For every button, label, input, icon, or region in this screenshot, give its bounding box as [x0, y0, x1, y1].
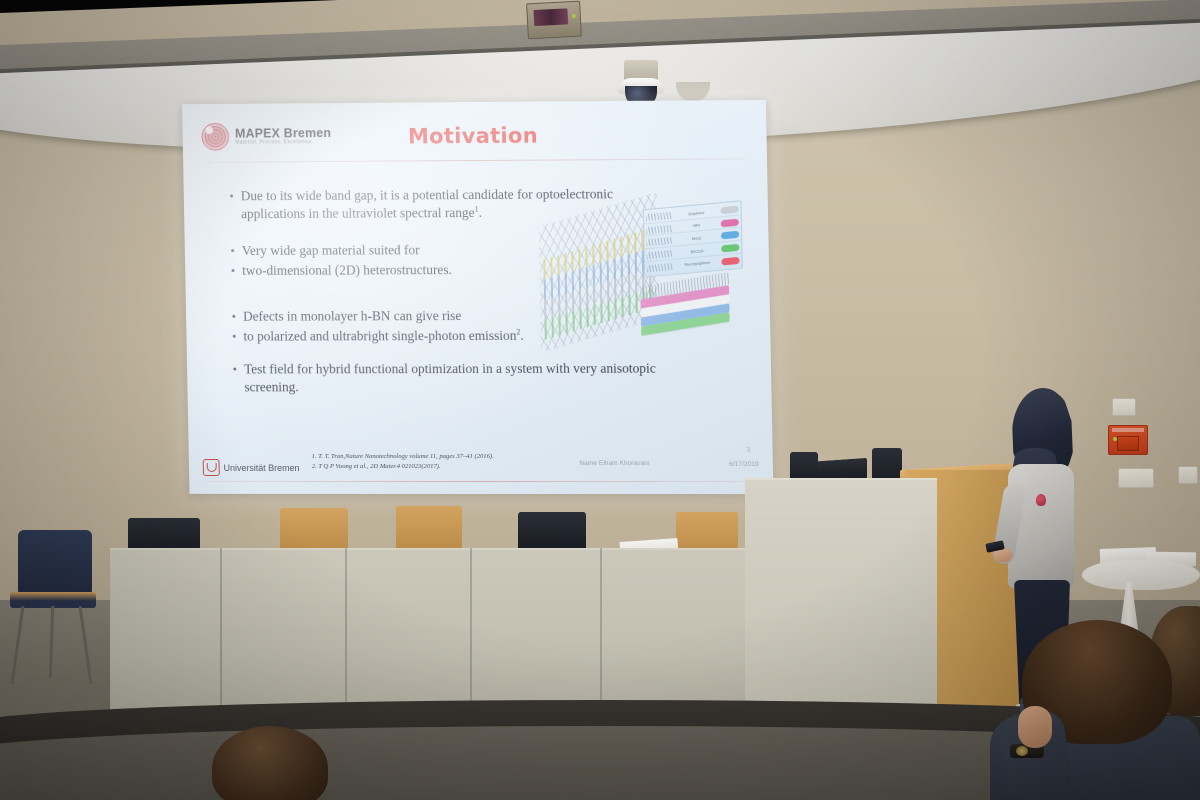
bullet-text-tail: .	[478, 205, 482, 220]
front-desk-panel	[110, 548, 750, 725]
bullet-marker: •	[232, 327, 237, 345]
legend-chip	[721, 231, 739, 240]
panel-seam	[220, 548, 222, 723]
university-name: Universität Bremen	[224, 463, 300, 473]
fire-alarm-led-icon	[1113, 437, 1117, 441]
panel-seam	[470, 548, 472, 723]
bullet-marker: •	[232, 360, 237, 396]
fire-alarm-glass	[1117, 436, 1139, 451]
legend-label: Graphene	[674, 209, 718, 217]
chair-left	[10, 530, 96, 626]
university-logo: Universität Bremen	[203, 459, 300, 476]
fire-alarm-label	[1112, 428, 1144, 432]
panel-seam	[600, 548, 602, 723]
chair-back	[18, 530, 92, 596]
presenter-badge-icon	[1036, 494, 1046, 506]
legend-label: hBN	[674, 222, 718, 230]
slide-page-number: 3	[746, 447, 750, 454]
light-switch-icon	[1112, 398, 1136, 416]
legend-mesh-icon	[647, 263, 673, 272]
projector-led-icon	[572, 14, 576, 18]
legend-chip	[721, 244, 739, 253]
reference-item: 2. T Q P Vuong et al., 2D Mater.4 021023…	[312, 462, 562, 472]
presenter-name-footer: Name Elham Khorasani	[579, 460, 649, 467]
slide-header-rule	[203, 158, 745, 162]
legend-label: Fluorographene	[675, 260, 719, 268]
legend-label: BSCCO	[675, 247, 719, 255]
legend-label: MoS2	[675, 235, 719, 243]
bullet-text: Test field for hybrid functional optimiz…	[244, 359, 683, 396]
bullet-marker: •	[231, 262, 236, 280]
legend-mesh-icon	[646, 225, 672, 234]
slide-footer-rule	[203, 481, 759, 482]
legend-mesh-icon	[647, 250, 673, 259]
audience-member-foreground-left	[212, 726, 328, 800]
legend-mesh-icon	[646, 237, 672, 246]
legend-chip	[721, 257, 739, 266]
legend-chip	[721, 219, 739, 228]
wall-socket-icon	[1178, 466, 1198, 484]
legend-mesh-icon	[646, 212, 672, 221]
audience-hand	[1018, 706, 1052, 748]
bullet-marker: •	[229, 187, 234, 223]
legend-chip	[720, 206, 738, 215]
chair-back-wood	[396, 506, 462, 554]
slide-date-footer: 6/17/2019	[729, 461, 759, 468]
reference-item: 1. T. T. Tran,Nature Nanotechnology volu…	[312, 452, 562, 462]
bullet-item: • Test field for hybrid functional optim…	[232, 359, 682, 396]
projected-slide: MAPEX Bremen Material. Process. Excellen…	[182, 100, 773, 494]
uni-bremen-mark-icon	[203, 459, 220, 476]
power-outlet-icon	[1118, 468, 1154, 488]
panel-seam	[345, 548, 347, 723]
lecture-hall-photo: MAPEX Bremen Material. Process. Excellen…	[0, 0, 1200, 800]
slide-references: 1. T. T. Tran,Nature Nanotechnology volu…	[312, 452, 562, 472]
watch-face-icon	[1016, 746, 1028, 756]
fire-alarm-call-point	[1108, 425, 1148, 455]
figure-legend: Graphene hBN MoS2 BS	[643, 200, 743, 277]
bullet-marker: •	[230, 242, 235, 260]
heterostructure-figure: Graphene hBN MoS2 BS	[538, 205, 742, 346]
bullet-text-main: to polarized and ultrabright single-phot…	[243, 328, 516, 344]
projector-lens-icon	[533, 8, 568, 26]
slide-title: Motivation	[182, 122, 766, 150]
bullet-marker: •	[231, 308, 236, 326]
bullet-text-tail: .	[520, 328, 524, 343]
ceiling-projector-icon	[526, 1, 582, 40]
